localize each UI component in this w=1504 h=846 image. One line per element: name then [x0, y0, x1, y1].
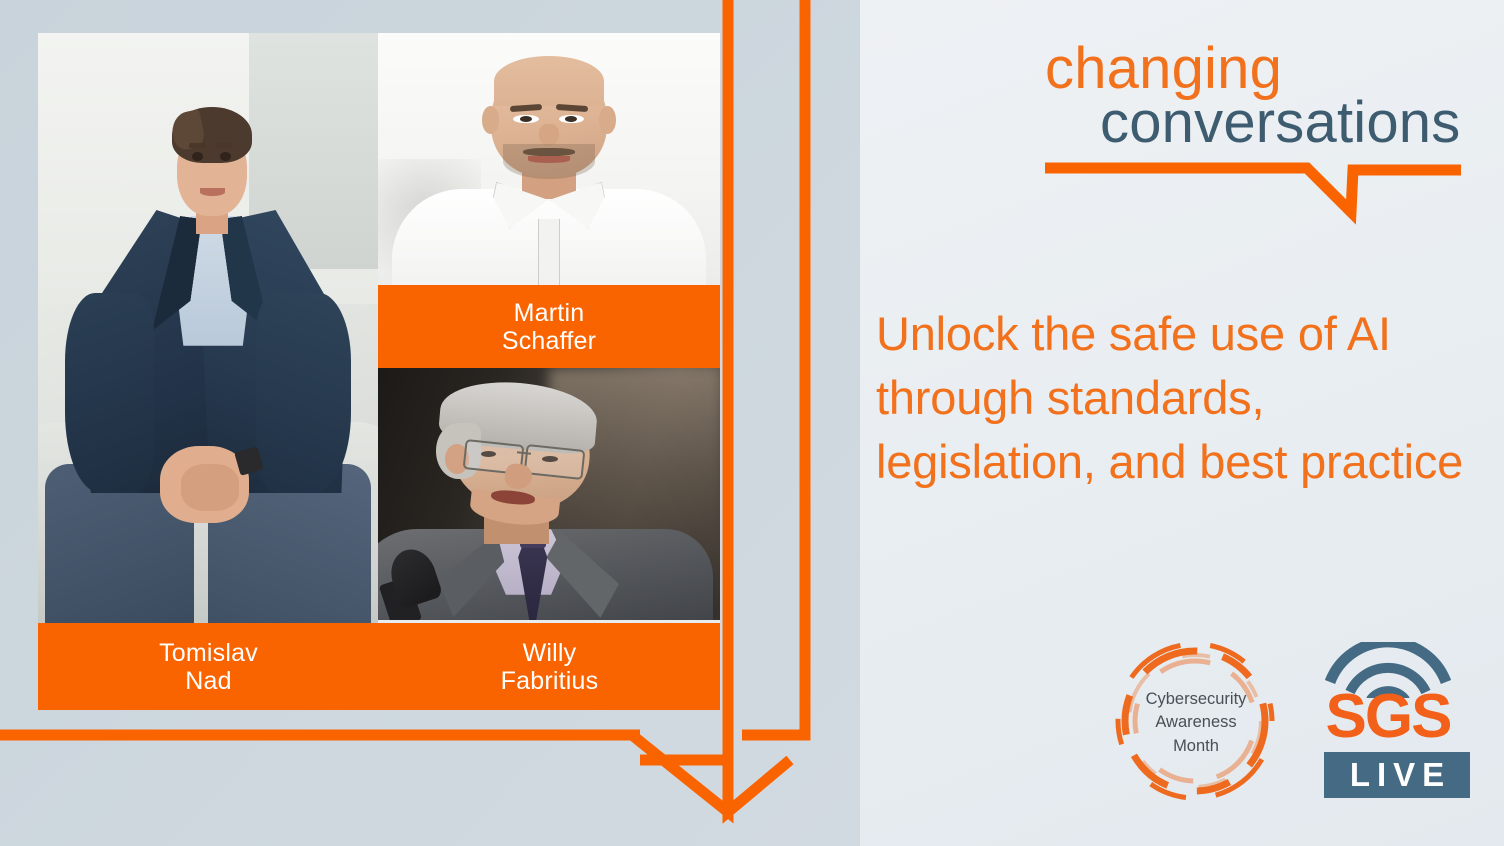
cam-line-1: Cybersecurity [1136, 688, 1256, 711]
speaker-photo-tomislav-nad [38, 33, 378, 623]
speaker-photo-martin-schaffer [378, 33, 720, 285]
sgs-live-badge: LIVE [1324, 752, 1470, 798]
speaker-last-name: Nad [185, 667, 231, 695]
speaker-first-name: Willy [523, 639, 577, 667]
speaker-name-bottom-bar: Tomislav Nad Willy Fabritius [38, 623, 720, 710]
changing-conversations-logo: changing conversations [1040, 40, 1465, 190]
cybersecurity-awareness-month-text: Cybersecurity Awareness Month [1136, 688, 1256, 758]
speaker-first-name: Tomislav [159, 639, 258, 667]
slide-canvas: Martin Schaffer [0, 0, 1504, 846]
logo-word-conversations: conversations [1100, 94, 1460, 152]
cam-line-2: Awareness [1136, 711, 1256, 734]
sponsor-logos: Cybersecurity Awareness Month SGS LIVE [1110, 638, 1470, 808]
speaker-last-name: Fabritius [501, 667, 599, 695]
sgs-wordmark: SGS [1306, 686, 1470, 748]
speaker-name-martin-schaffer: Martin Schaffer [378, 285, 720, 368]
speaker-name-tomislav-nad: Tomislav Nad [38, 639, 379, 695]
speaker-photo-willy-fabritius [378, 368, 720, 620]
speaker-last-name: Schaffer [502, 327, 596, 355]
sgs-live-logo: SGS LIVE [1306, 642, 1470, 800]
cam-line-3: Month [1136, 735, 1256, 758]
speaker-name-willy-fabritius: Willy Fabritius [379, 639, 720, 695]
speaker-photo-grid: Martin Schaffer [38, 33, 720, 696]
cybersecurity-awareness-month-logo: Cybersecurity Awareness Month [1110, 640, 1280, 802]
speech-bubble-underline-icon [1045, 162, 1465, 232]
session-headline: Unlock the safe use of AI through standa… [876, 302, 1476, 494]
speaker-first-name: Martin [514, 299, 585, 327]
